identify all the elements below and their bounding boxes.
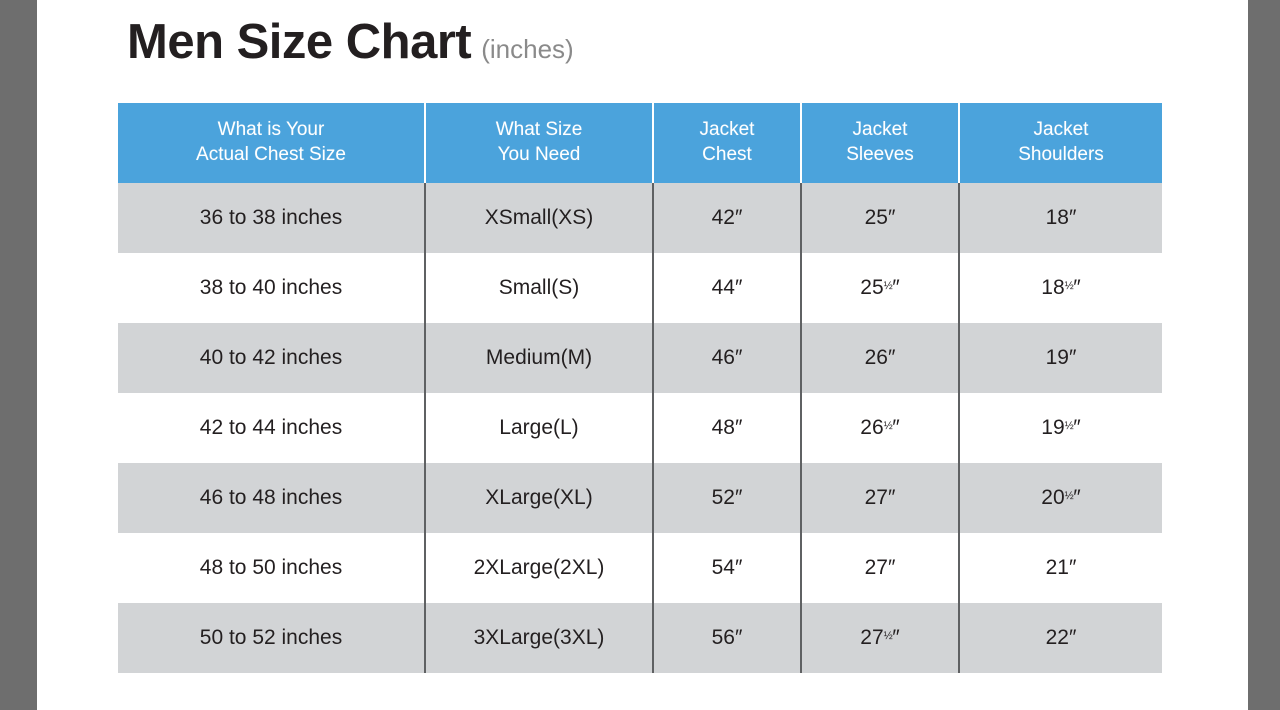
table-row: 50 to 52 inches 3XLarge(3XL) 56″ 27½″ 22… <box>118 603 1162 673</box>
table-row: 46 to 48 inches XLarge(XL) 52″ 27″ 20½″ <box>118 463 1162 533</box>
cell-jacket-sleeves: 27″ <box>801 463 959 533</box>
slide-stage: Men Size Chart (inches) What is Your Act… <box>0 0 1280 710</box>
column-header-size-needed: What Size You Need <box>425 103 653 183</box>
letterbox-left <box>0 0 37 710</box>
cell-jacket-shoulders: 21″ <box>959 533 1162 603</box>
column-header-line-1: What Size <box>432 117 646 142</box>
cell-jacket-chest: 48″ <box>653 393 801 463</box>
cell-jacket-shoulders: 19½″ <box>959 393 1162 463</box>
cell-actual-chest: 42 to 44 inches <box>118 393 425 463</box>
cell-jacket-chest: 46″ <box>653 323 801 393</box>
cell-actual-chest: 40 to 42 inches <box>118 323 425 393</box>
half-fraction-glyph: ½ <box>1065 281 1074 292</box>
page-title-main: Men Size Chart <box>127 18 471 67</box>
column-header-line-2: Chest <box>660 142 794 167</box>
cell-jacket-chest: 42″ <box>653 183 801 253</box>
cell-actual-chest: 48 to 50 inches <box>118 533 425 603</box>
cell-jacket-shoulders: 18″ <box>959 183 1162 253</box>
half-fraction-glyph: ½ <box>884 421 893 432</box>
column-header-jacket-chest: Jacket Chest <box>653 103 801 183</box>
table-row: 40 to 42 inches Medium(M) 46″ 26″ 19″ <box>118 323 1162 393</box>
cell-jacket-sleeves: 25″ <box>801 183 959 253</box>
column-header-line-2: Sleeves <box>808 142 952 167</box>
column-header-line-2: Actual Chest Size <box>124 142 418 167</box>
cell-jacket-sleeves: 27″ <box>801 533 959 603</box>
column-header-line-1: Jacket <box>660 117 794 142</box>
column-header-jacket-shoulders: Jacket Shoulders <box>959 103 1162 183</box>
cell-jacket-chest: 44″ <box>653 253 801 323</box>
cell-jacket-shoulders: 19″ <box>959 323 1162 393</box>
page-title: Men Size Chart (inches) <box>127 18 574 67</box>
cell-size-needed: Medium(M) <box>425 323 653 393</box>
column-header-line-1: Jacket <box>808 117 952 142</box>
cell-size-needed: Small(S) <box>425 253 653 323</box>
size-chart-table: What is Your Actual Chest Size What Size… <box>118 103 1162 673</box>
column-header-jacket-sleeves: Jacket Sleeves <box>801 103 959 183</box>
cell-actual-chest: 50 to 52 inches <box>118 603 425 673</box>
cell-size-needed: 3XLarge(3XL) <box>425 603 653 673</box>
cell-jacket-chest: 54″ <box>653 533 801 603</box>
half-fraction-glyph: ½ <box>1065 491 1074 502</box>
cell-jacket-chest: 52″ <box>653 463 801 533</box>
cell-jacket-shoulders: 18½″ <box>959 253 1162 323</box>
cell-jacket-sleeves: 26″ <box>801 323 959 393</box>
cell-jacket-chest: 56″ <box>653 603 801 673</box>
column-header-actual-chest: What is Your Actual Chest Size <box>118 103 425 183</box>
slide-content: Men Size Chart (inches) What is Your Act… <box>37 0 1248 710</box>
cell-jacket-shoulders: 22″ <box>959 603 1162 673</box>
cell-actual-chest: 46 to 48 inches <box>118 463 425 533</box>
cell-size-needed: Large(L) <box>425 393 653 463</box>
table-row: 38 to 40 inches Small(S) 44″ 25½″ 18½″ <box>118 253 1162 323</box>
column-header-line-1: What is Your <box>124 117 418 142</box>
table-row: 36 to 38 inches XSmall(XS) 42″ 25″ 18″ <box>118 183 1162 253</box>
cell-jacket-shoulders: 20½″ <box>959 463 1162 533</box>
cell-jacket-sleeves: 27½″ <box>801 603 959 673</box>
table-header: What is Your Actual Chest Size What Size… <box>118 103 1162 183</box>
cell-size-needed: XSmall(XS) <box>425 183 653 253</box>
cell-jacket-sleeves: 25½″ <box>801 253 959 323</box>
letterbox-right <box>1248 0 1280 710</box>
column-header-line-2: Shoulders <box>966 142 1156 167</box>
table-body: 36 to 38 inches XSmall(XS) 42″ 25″ 18″ 3… <box>118 183 1162 673</box>
column-header-line-1: Jacket <box>966 117 1156 142</box>
cell-actual-chest: 38 to 40 inches <box>118 253 425 323</box>
half-fraction-glyph: ½ <box>1065 421 1074 432</box>
column-header-line-2: You Need <box>432 142 646 167</box>
half-fraction-glyph: ½ <box>884 281 893 292</box>
cell-jacket-sleeves: 26½″ <box>801 393 959 463</box>
table-header-row: What is Your Actual Chest Size What Size… <box>118 103 1162 183</box>
cell-size-needed: 2XLarge(2XL) <box>425 533 653 603</box>
cell-size-needed: XLarge(XL) <box>425 463 653 533</box>
cell-actual-chest: 36 to 38 inches <box>118 183 425 253</box>
table-row: 42 to 44 inches Large(L) 48″ 26½″ 19½″ <box>118 393 1162 463</box>
table-row: 48 to 50 inches 2XLarge(2XL) 54″ 27″ 21″ <box>118 533 1162 603</box>
page-title-unit-note: (inches) <box>481 36 573 62</box>
half-fraction-glyph: ½ <box>884 631 893 642</box>
